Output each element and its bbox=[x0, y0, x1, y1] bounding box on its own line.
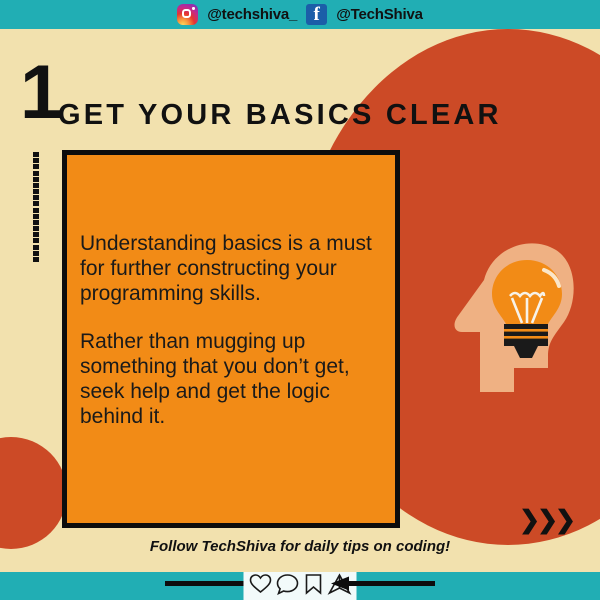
facebook-icon: f bbox=[306, 4, 327, 25]
footer-tagline: Follow TechShiva for daily tips on codin… bbox=[0, 538, 600, 555]
instagram-icon bbox=[177, 4, 198, 25]
comment-icon[interactable] bbox=[276, 573, 300, 600]
content-card-text: Understanding basics is a must for furth… bbox=[80, 231, 380, 429]
arrow-left-icon bbox=[331, 576, 435, 597]
slide-canvas: @techshiva_ f @TechShiva 1 GET YOUR BASI… bbox=[0, 0, 600, 600]
instagram-handle: @techshiva_ bbox=[207, 6, 297, 23]
facebook-handle: @TechShiva bbox=[336, 6, 423, 23]
body-paragraph-1: Understanding basics is a must for furth… bbox=[80, 231, 380, 306]
save-icon[interactable] bbox=[303, 573, 325, 600]
content-card: Understanding basics is a must for furth… bbox=[62, 150, 400, 528]
facebook-glyph: f bbox=[306, 4, 327, 25]
engagement-bar bbox=[0, 572, 600, 600]
head-with-lightbulb-icon bbox=[452, 228, 578, 392]
slide-number: 1 bbox=[20, 55, 62, 131]
background-circle-left bbox=[0, 437, 67, 549]
social-header-bar: @techshiva_ f @TechShiva bbox=[0, 0, 600, 29]
next-chevrons-icon[interactable]: ❯❯❯ bbox=[519, 505, 573, 535]
like-icon[interactable] bbox=[249, 573, 273, 600]
dotted-rail bbox=[33, 152, 39, 262]
body-paragraph-2: Rather than mugging up something that yo… bbox=[80, 329, 380, 429]
page-title: GET YOUR BASICS CLEAR bbox=[58, 99, 502, 132]
